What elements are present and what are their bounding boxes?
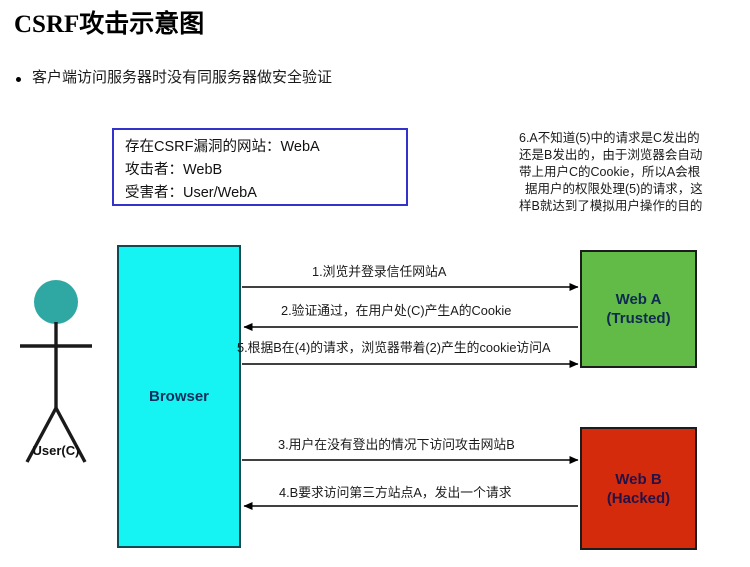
browser-node-label: Browser xyxy=(149,387,209,406)
note-line-1: 6.A不知道(5)中的请求是C发出的 xyxy=(519,130,744,147)
bullet-text: 客户端访问服务器时没有同服务器做安全验证 xyxy=(32,68,332,88)
user-stick-figure xyxy=(16,278,96,468)
note-line-2: 还是B发出的，由于浏览器会自动 xyxy=(519,147,744,164)
web-a-node-label: Web A (Trusted) xyxy=(606,290,670,328)
note-line-5: 样B就达到了模拟用户操作的目的 xyxy=(519,198,744,215)
note-line-3: 带上用户C的Cookie，所以A会根 xyxy=(519,164,744,181)
roles-line-attacker: 攻击者：WebB xyxy=(125,159,406,182)
flow-label-5: 5.根据B在(4)的请求，浏览器带着(2)产生的cookie访问A xyxy=(237,337,551,356)
web-a-node[interactable]: Web A (Trusted) xyxy=(580,250,697,368)
flow-label-4: 4.B要求访问第三方站点A，发出一个请求 xyxy=(279,482,512,501)
bullet-item: 客户端访问服务器时没有同服务器做安全验证 xyxy=(16,68,332,88)
roles-line-victim: 受害者：User/WebA xyxy=(125,182,406,205)
web-a-label-line1: Web A xyxy=(616,291,662,308)
note-line-4: 据用户的权限处理(5)的请求，这 xyxy=(519,181,744,198)
flow-label-1: 1.浏览并登录信任网站A xyxy=(312,261,446,280)
browser-node[interactable]: Browser xyxy=(117,245,241,548)
page-title: CSRF攻击示意图 xyxy=(14,4,204,40)
explanation-note: 6.A不知道(5)中的请求是C发出的 还是B发出的，由于浏览器会自动 带上用户C… xyxy=(519,130,744,215)
web-a-label-line2: (Trusted) xyxy=(606,310,670,327)
roles-legend-box: 存在CSRF漏洞的网站：WebA 攻击者：WebB 受害者：User/WebA xyxy=(112,128,408,206)
web-b-node-label: Web B (Hacked) xyxy=(607,470,670,508)
web-b-node[interactable]: Web B (Hacked) xyxy=(580,427,697,550)
user-head-icon xyxy=(34,280,78,324)
web-b-label-line2: (Hacked) xyxy=(607,490,670,507)
web-b-label-line1: Web B xyxy=(615,471,661,488)
user-label: User(C) xyxy=(16,443,96,458)
bullet-dot-icon xyxy=(16,77,21,82)
flow-label-2: 2.验证通过，在用户处(C)产生A的Cookie xyxy=(281,300,511,319)
roles-line-vulnerable-site: 存在CSRF漏洞的网站：WebA xyxy=(125,136,406,159)
flow-label-3: 3.用户在没有登出的情况下访问攻击网站B xyxy=(278,434,515,453)
